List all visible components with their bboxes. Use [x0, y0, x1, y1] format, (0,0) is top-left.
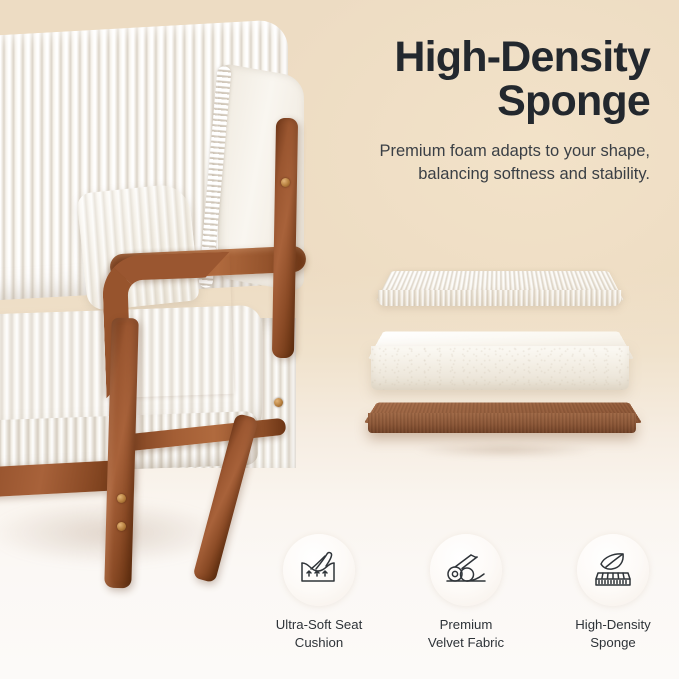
feather-on-foam-icon — [590, 549, 636, 591]
feature-highlights-row: Ultra-Soft Seat Cushion Premium — [253, 534, 679, 654]
wood-side-grain-texture — [368, 413, 636, 433]
subheading-line-1: Premium foam adapts to your shape, — [379, 142, 650, 160]
subheading-line-2: balancing softness and stability. — [304, 163, 650, 186]
wood-side-edge — [368, 413, 636, 433]
feature-icon-badge — [430, 534, 502, 606]
feature-icon-badge — [577, 534, 649, 606]
diagram-drop-shadow — [376, 439, 634, 461]
subheading: Premium foam adapts to your shape, balan… — [304, 140, 650, 187]
feature-label-line-2: Velvet Fabric — [428, 634, 504, 652]
feature-label-line-1: Premium — [428, 616, 504, 634]
chair-back-upright-post — [272, 118, 298, 358]
headline-block: High-Density Sponge Premium foam adapts … — [304, 36, 650, 187]
cover-side-rib-texture — [378, 290, 621, 306]
fabric-roll-icon — [443, 549, 489, 591]
brass-dowel-pin-icon — [117, 522, 126, 531]
product-photo-chair — [0, 18, 338, 558]
brass-dowel-pin-icon — [117, 494, 126, 503]
hand-pressing-cushion-icon — [296, 549, 342, 591]
feature-label: Premium Velvet Fabric — [428, 616, 504, 652]
feature-icon-badge — [283, 534, 355, 606]
page-title: High-Density Sponge — [304, 36, 650, 124]
infographic-canvas: High-Density Sponge Premium foam adapts … — [0, 0, 679, 679]
headline-line-2: Sponge — [304, 80, 650, 124]
headline-line-1: High-Density — [394, 33, 650, 81]
feature-label-line-2: Cushion — [276, 634, 363, 652]
cover-side-edge — [378, 290, 621, 306]
feature-ultra-soft-seat-cushion: Ultra-Soft Seat Cushion — [253, 534, 385, 652]
layer-solid-wood-base — [364, 383, 642, 447]
feature-label-line-1: Ultra-Soft Seat — [276, 616, 363, 634]
brass-dowel-pin-icon — [274, 398, 283, 407]
feature-label: High-Density Sponge — [575, 616, 651, 652]
feature-premium-velvet-fabric: Premium Velvet Fabric — [400, 534, 532, 652]
exploded-layer-diagram — [368, 243, 656, 448]
feature-high-density-sponge: High-Density Sponge — [547, 534, 679, 652]
feature-label-line-2: Sponge — [575, 634, 651, 652]
brass-dowel-pin-icon — [281, 178, 290, 187]
feature-label-line-1: High-Density — [575, 616, 651, 634]
feature-label: Ultra-Soft Seat Cushion — [276, 616, 363, 652]
